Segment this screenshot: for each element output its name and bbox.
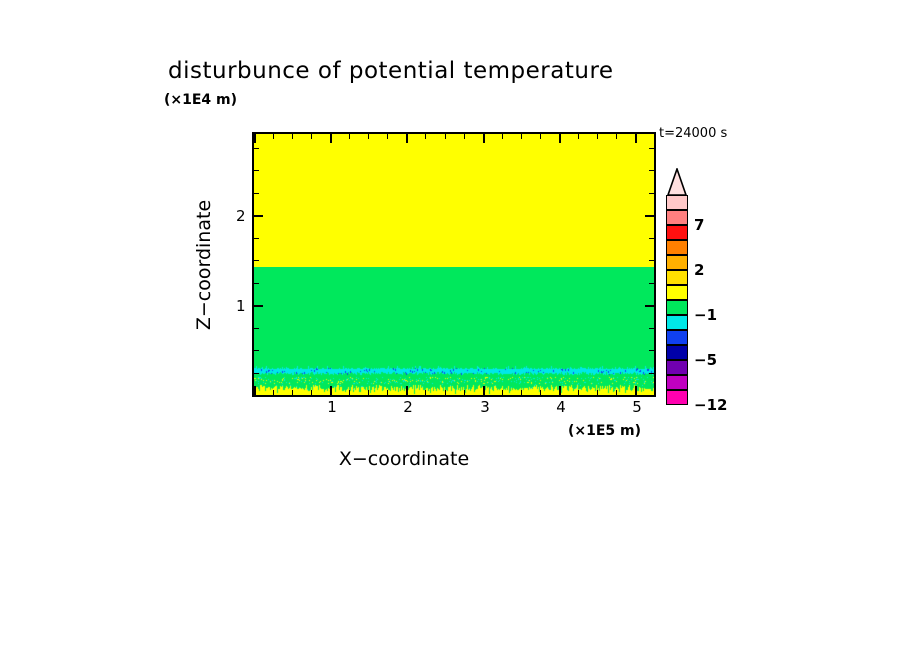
y-tick-label-1: 1	[236, 297, 246, 315]
y-tick-left	[254, 238, 259, 239]
y-tick-left	[254, 328, 259, 329]
colorbar-swatch	[666, 195, 688, 210]
y-axis-title-text: Z−coordinate	[193, 200, 215, 330]
x-tick-bottom	[635, 386, 637, 395]
y-tick-label-2: 2	[236, 207, 246, 225]
contour-plot-area	[254, 134, 654, 395]
x-tick-bottom	[425, 390, 426, 395]
x-tick-top	[483, 134, 485, 143]
y-tick-right	[649, 328, 654, 329]
colorbar-swatch	[666, 255, 688, 270]
colorbar-swatch	[666, 375, 688, 390]
x-tick-top	[597, 134, 598, 139]
colorbar-tick-label: −1	[694, 306, 717, 324]
x-tick-bottom	[540, 390, 541, 395]
colorbar-swatch	[666, 300, 688, 315]
x-tick-top	[349, 134, 350, 139]
x-tick-label-2: 2	[403, 398, 413, 416]
y-tick-right	[649, 283, 654, 284]
x-tick-top	[635, 134, 637, 143]
x-tick-bottom	[368, 390, 369, 395]
y-tick-left	[254, 283, 259, 284]
y-tick-right	[649, 395, 654, 396]
x-tick-top	[330, 134, 332, 143]
x-tick-bottom	[502, 390, 503, 395]
x-unit-label: (×1E5 m)	[568, 423, 641, 439]
x-tick-bottom	[521, 390, 522, 395]
x-tick-label-4: 4	[556, 398, 566, 416]
y-axis-title: Z−coordinate	[188, 170, 220, 360]
x-tick-bottom	[349, 390, 350, 395]
colorbar-swatch	[666, 345, 688, 360]
x-tick-bottom	[387, 390, 388, 395]
x-tick-bottom	[483, 386, 485, 395]
x-tick-label-1: 1	[327, 398, 337, 416]
y-tick-right	[645, 305, 654, 307]
colorbar-swatch	[666, 210, 688, 225]
y-tick-right	[649, 260, 654, 261]
x-tick-top	[311, 134, 312, 139]
x-tick-top	[425, 134, 426, 139]
y-tick-right	[649, 148, 654, 149]
x-tick-bottom	[330, 386, 332, 395]
colorbar-arrow-tip	[666, 168, 688, 196]
y-tick-right	[649, 170, 654, 171]
x-tick-bottom	[254, 386, 256, 395]
x-tick-bottom	[311, 390, 312, 395]
x-axis-title-text: X−coordinate	[339, 448, 469, 470]
y-tick-right	[649, 350, 654, 351]
colorbar-swatch	[666, 360, 688, 375]
x-tick-top	[445, 134, 446, 139]
x-tick-bottom	[445, 390, 446, 395]
y-tick-left	[254, 260, 259, 261]
colorbar-swatch	[666, 390, 688, 405]
x-tick-top	[406, 134, 408, 143]
y-tick-left	[254, 373, 259, 374]
x-tick-top	[578, 134, 579, 139]
x-tick-top	[292, 134, 293, 139]
time-annotation: t=24000 s	[659, 126, 727, 141]
x-tick-bottom	[597, 390, 598, 395]
x-tick-bottom	[464, 390, 465, 395]
x-tick-top	[616, 134, 617, 139]
colorbar-swatch	[666, 285, 688, 300]
y-tick-right	[645, 215, 654, 217]
y-tick-right	[649, 373, 654, 374]
colorbar-swatch	[666, 330, 688, 345]
y-tick-left	[254, 148, 259, 149]
colorbar-swatch	[666, 315, 688, 330]
colorbar-tick-label: 2	[694, 261, 704, 279]
page-title: disturbunce of potential temperature	[168, 58, 748, 84]
colorbar-tick-label: 7	[694, 216, 704, 234]
x-tick-bottom	[406, 386, 408, 395]
plot-frame	[252, 132, 656, 397]
x-tick-label-3: 3	[480, 398, 490, 416]
colorbar-tick-label: −12	[694, 396, 727, 414]
y-tick-left	[254, 193, 259, 194]
x-axis-title: X−coordinate	[0, 448, 904, 470]
x-tick-bottom	[273, 390, 274, 395]
colorbar-swatch	[666, 225, 688, 240]
y-tick-left	[254, 395, 259, 396]
y-tick-left	[254, 305, 263, 307]
y-tick-right	[649, 193, 654, 194]
y-tick-right	[649, 238, 654, 239]
x-tick-top	[273, 134, 274, 139]
colorbar-tick-label: −5	[694, 351, 717, 369]
x-tick-bottom	[559, 386, 561, 395]
x-tick-top	[521, 134, 522, 139]
x-tick-bottom	[292, 390, 293, 395]
y-tick-left	[254, 215, 263, 217]
z-unit-label: (×1E4 m)	[164, 92, 237, 108]
y-tick-left	[254, 350, 259, 351]
x-tick-bottom	[616, 390, 617, 395]
y-tick-left	[254, 170, 259, 171]
colorbar-swatch	[666, 270, 688, 285]
x-tick-top	[502, 134, 503, 139]
x-tick-top	[368, 134, 369, 139]
x-tick-top	[464, 134, 465, 139]
figure-canvas: disturbunce of potential temperature (×1…	[0, 0, 904, 654]
contour-noise-layer	[254, 134, 654, 395]
x-tick-top	[254, 134, 256, 143]
x-tick-label-5: 5	[632, 398, 642, 416]
x-tick-top	[387, 134, 388, 139]
x-tick-top	[540, 134, 541, 139]
colorbar-swatch	[666, 240, 688, 255]
x-tick-top	[559, 134, 561, 143]
x-tick-bottom	[578, 390, 579, 395]
